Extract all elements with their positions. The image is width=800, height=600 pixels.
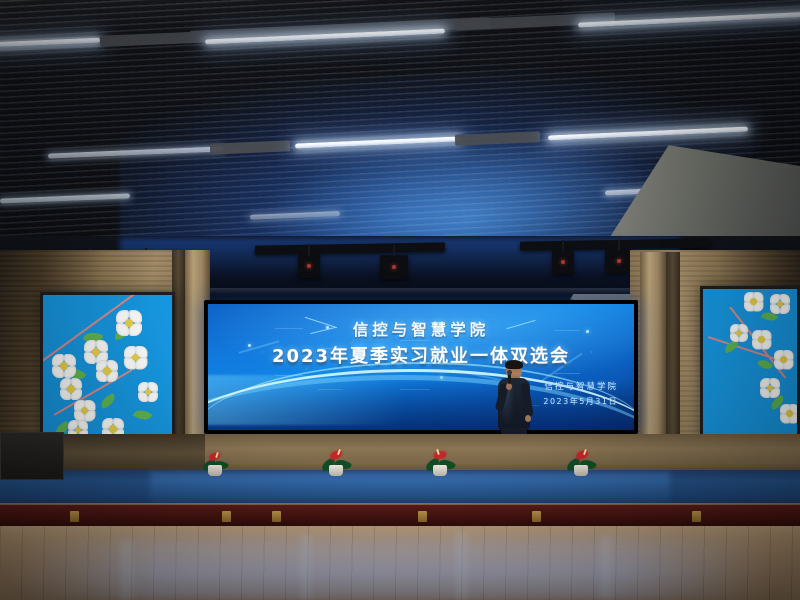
panel-frame [700,286,800,446]
presenter-hand-free [525,415,531,422]
potted-plant-2 [320,450,352,476]
fixture-yoke [393,245,395,256]
presenter-hand-mic [506,383,512,390]
stage-light-fixture-6 [605,249,633,273]
stage-front-panel [0,505,800,527]
stage-light-fixture-3 [298,254,320,278]
fixture-lens [617,259,621,263]
fixture-yoke [562,240,564,251]
presenter-hair [505,360,523,369]
side-led-panel-left [40,292,175,447]
side-led-panel-right [700,286,800,446]
screen-date: 2023年5月31日 [543,396,618,407]
side-equipment-cabinet [0,432,64,480]
potted-plant-1 [200,452,230,476]
fixture-lens [307,264,311,268]
plant-flower [576,450,589,459]
stage-vent [222,511,231,522]
screen-title: 信控与智慧学院 [208,318,634,340]
fixture-yoke [618,239,620,250]
plant-pot [574,465,588,476]
potted-plant-3 [424,450,456,476]
floor-light-streak [455,532,468,600]
main-led-screen: 信控与智慧学院 2023年夏季实习就业一体双选会 信控与智慧学院 2023年5月… [208,304,634,430]
floor-light-streak [120,540,134,600]
stage-light-fixture-5 [552,250,574,274]
plant-pot [433,465,447,476]
plant-pot [208,465,222,476]
floor-light-streak [600,536,612,600]
stage-vent [692,511,701,522]
plant-flower [329,450,342,460]
potted-plant-4 [565,450,597,476]
auditorium-photo: 信控与智慧学院 2023年夏季实习就业一体双选会 信控与智慧学院 2023年5月… [0,0,800,600]
stage-light-fixture-4 [380,255,408,279]
plant-flower [434,450,447,460]
stage-vent [418,511,427,522]
panel-frame [40,292,175,447]
fixture-yoke [308,244,310,255]
fixture-lens [392,265,396,269]
stage-vent [272,511,281,522]
microphone-head [507,370,512,375]
fixture-lens [561,260,565,264]
floor-light-streak [300,534,312,600]
stage-vent [70,511,79,522]
screen-organizer: 信控与智慧学院 [544,380,618,392]
plant-pot [329,465,343,476]
stage-vent [532,511,541,522]
